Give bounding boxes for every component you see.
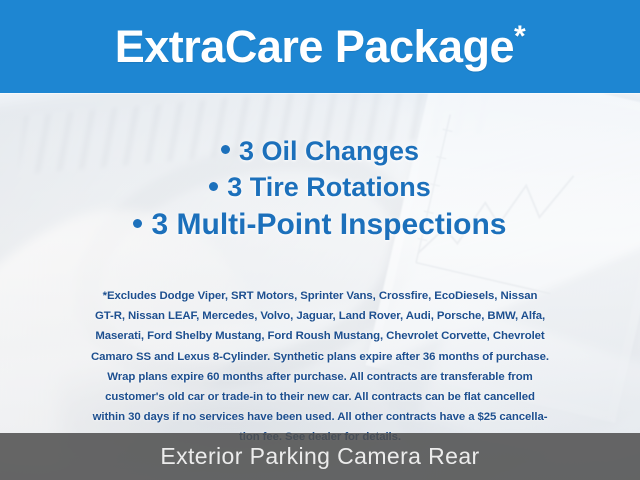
- header-banner: ExtraCare Package*: [0, 0, 640, 93]
- caption-bar: Exterior Parking Camera Rear: [0, 433, 640, 480]
- benefit-item-label: 3 Tire Rotations: [227, 172, 431, 202]
- disclaimer-line: Camaro SS and Lexus 8-Cylinder. Syntheti…: [28, 347, 612, 367]
- disclaimer-text: *Excludes Dodge Viper, SRT Motors, Sprin…: [28, 286, 612, 448]
- page-title-asterisk: *: [514, 20, 525, 53]
- bullet-dot-icon: [133, 219, 142, 228]
- disclaimer-line: *Excludes Dodge Viper, SRT Motors, Sprin…: [28, 286, 612, 306]
- benefit-item: 3 Multi-Point Inspections: [0, 205, 640, 245]
- bullet-dot-icon: [209, 182, 218, 191]
- page-title-text: ExtraCare Package: [115, 21, 514, 72]
- benefit-item-label: 3 Multi-Point Inspections: [151, 208, 506, 241]
- disclaimer-line: Wrap plans expire 60 months after purcha…: [28, 367, 612, 387]
- page-title: ExtraCare Package*: [115, 24, 525, 69]
- benefit-item: 3 Oil Changes: [0, 133, 640, 169]
- caption-label: Exterior Parking Camera Rear: [160, 445, 479, 468]
- bullet-dot-icon: [221, 145, 230, 154]
- disclaimer-line: within 30 days if no services have been …: [28, 407, 612, 427]
- benefit-item-label: 3 Oil Changes: [239, 136, 419, 166]
- benefit-item: 3 Tire Rotations: [0, 169, 640, 205]
- disclaimer-line: GT-R, Nissan LEAF, Mercedes, Volvo, Jagu…: [28, 306, 612, 326]
- disclaimer-line: Maserati, Ford Shelby Mustang, Ford Rous…: [28, 326, 612, 346]
- promo-image: ExtraCare Package* 3 Oil Changes 3 Tire …: [0, 0, 640, 480]
- benefits-list: 3 Oil Changes 3 Tire Rotations 3 Multi-P…: [0, 133, 640, 246]
- disclaimer-line: customer's old car or trade-in to their …: [28, 387, 612, 407]
